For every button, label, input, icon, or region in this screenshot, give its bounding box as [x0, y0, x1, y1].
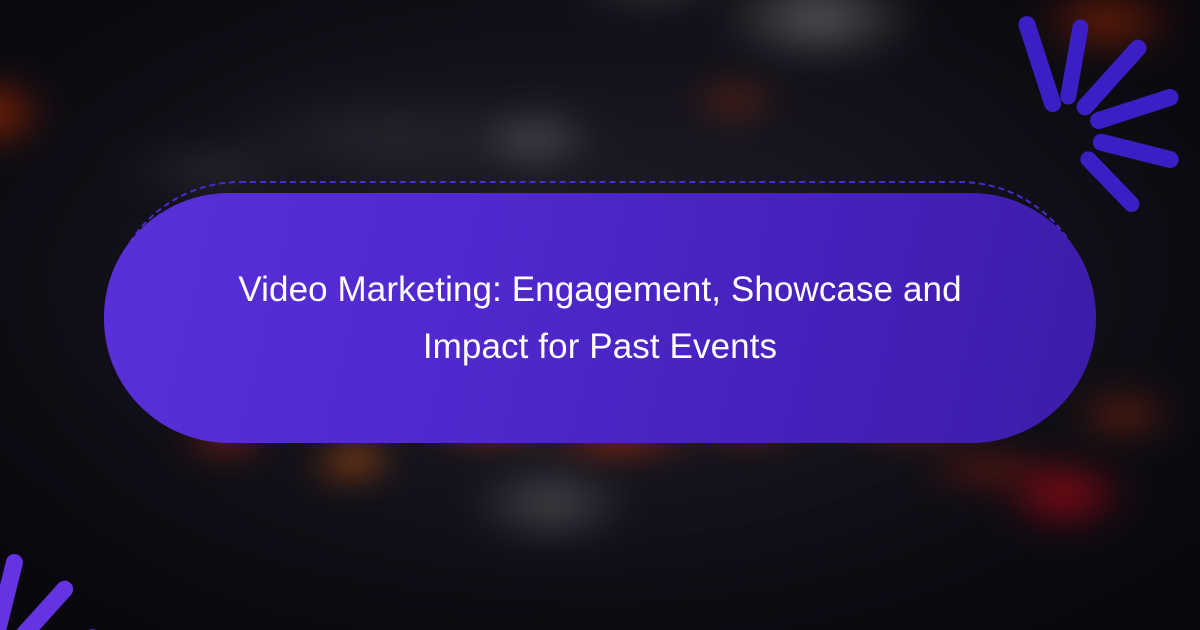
title-card: Video Marketing: Engagement, Showcase an… — [104, 193, 1096, 443]
page-title: Video Marketing: Engagement, Showcase an… — [205, 261, 995, 375]
social-card-canvas: Video Marketing: Engagement, Showcase an… — [0, 0, 1200, 630]
